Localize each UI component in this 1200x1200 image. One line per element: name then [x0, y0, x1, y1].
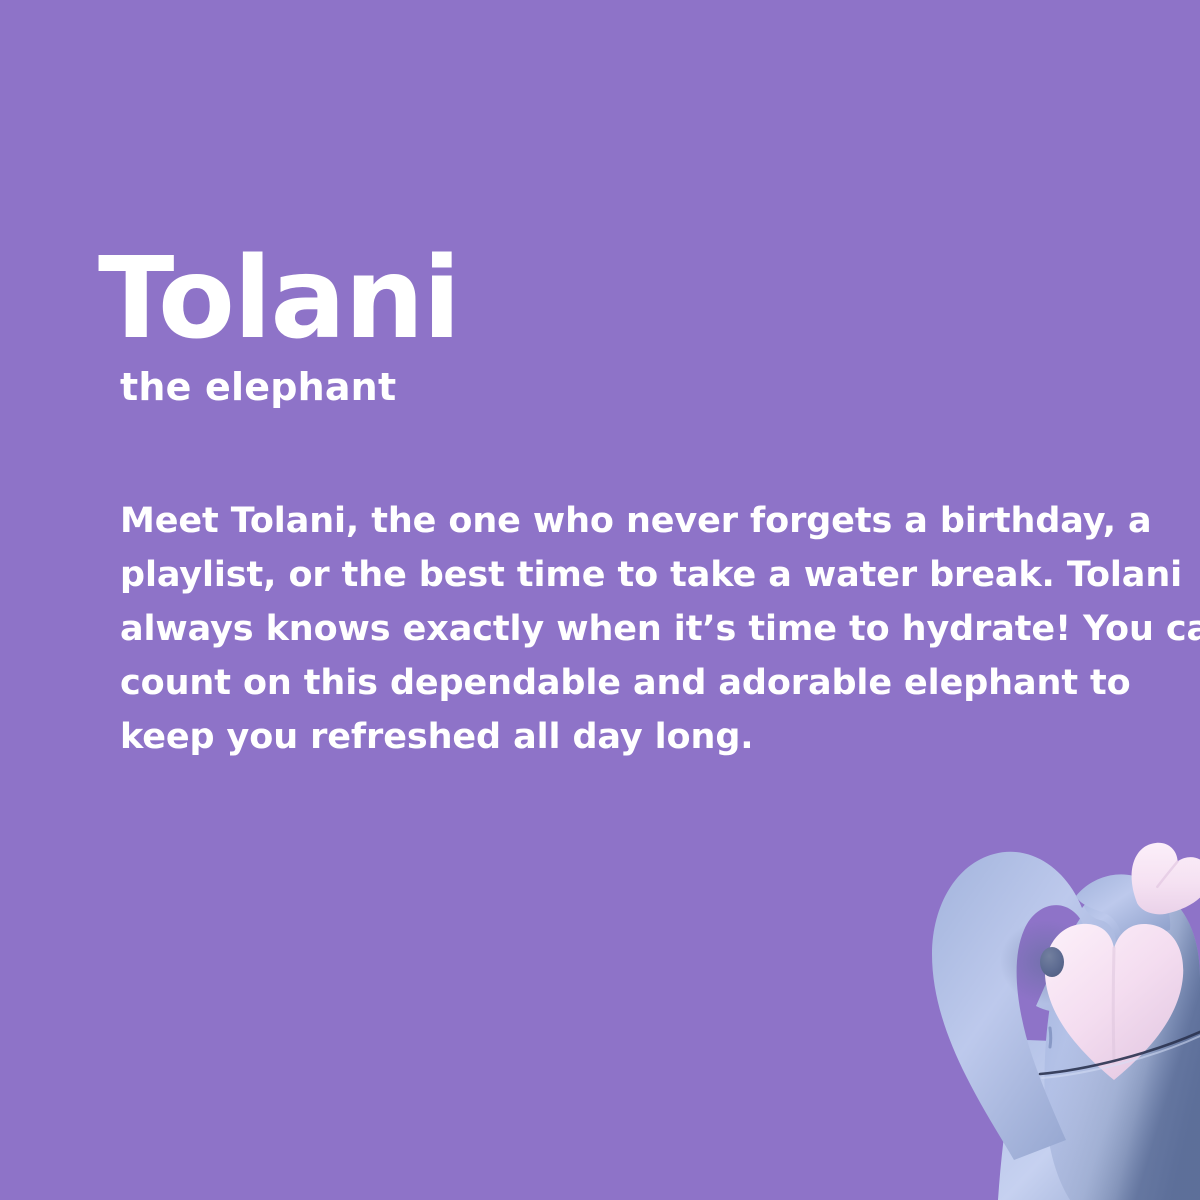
description-line-4: count on this dependable and adorable el…: [120, 656, 1120, 710]
page-title: Tolani: [98, 243, 460, 355]
description-line-2: playlist, or the best time to take a wat…: [120, 548, 1120, 602]
character-profile-card: Tolani the elephant Meet Tolani, the one…: [0, 0, 1200, 1200]
description-line-5: keep you refreshed all day long.: [120, 710, 1120, 764]
page-subtitle: the elephant: [120, 368, 396, 406]
description-line-1: Meet Tolani, the one who never forgets a…: [120, 494, 1120, 548]
card-text-container: Tolani the elephant Meet Tolani, the one…: [0, 0, 1200, 1200]
description-line-3: always knows exactly when it’s time to h…: [120, 602, 1120, 656]
character-description: Meet Tolani, the one who never forgets a…: [120, 494, 1120, 764]
